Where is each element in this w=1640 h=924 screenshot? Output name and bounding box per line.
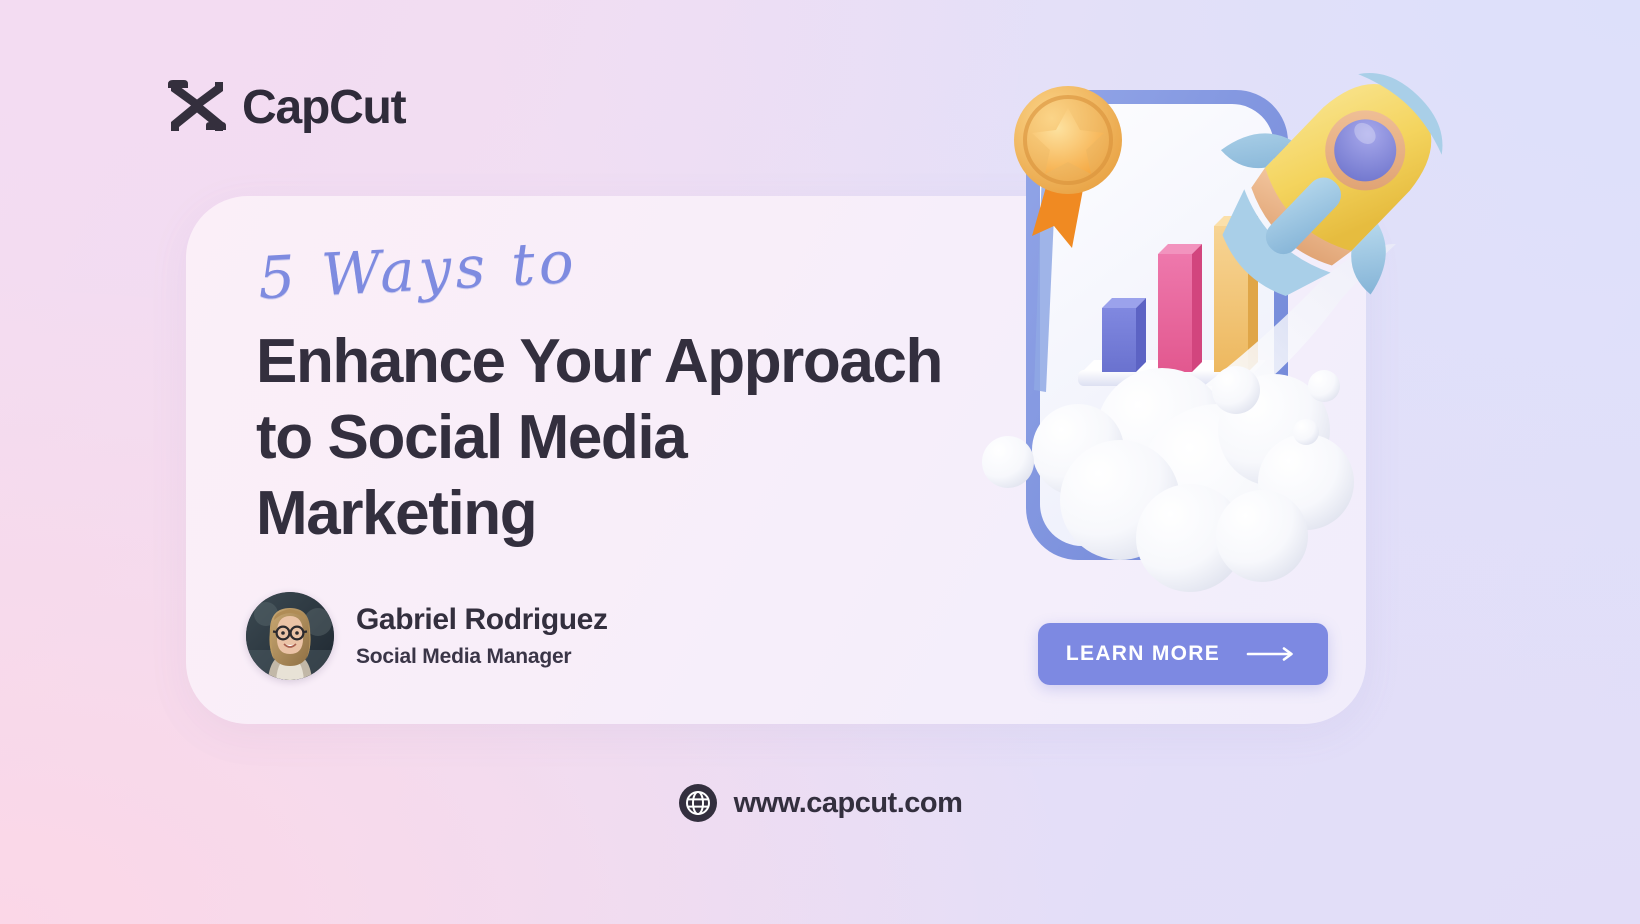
author-name: Gabriel Rodriguez: [356, 603, 608, 637]
arrow-right-icon: [1246, 646, 1300, 662]
avatar: [246, 592, 334, 680]
capcut-hourglass-icon: [166, 78, 228, 136]
brand-name: CapCut: [242, 80, 405, 135]
learn-more-button[interactable]: LEARN MORE: [1038, 623, 1328, 685]
footer: www.capcut.com: [0, 783, 1640, 823]
globe-icon: [678, 783, 718, 823]
capcut-logo: CapCut: [166, 78, 405, 136]
website-url: www.capcut.com: [734, 787, 963, 820]
learn-more-label: LEARN MORE: [1066, 642, 1220, 666]
author-block: Gabriel Rodriguez Social Media Manager: [246, 592, 608, 680]
page-title: Enhance Your Approach to Social Media Ma…: [256, 324, 946, 552]
rocket-launch-analytics-illustration: [950, 30, 1510, 610]
author-role: Social Media Manager: [356, 645, 608, 669]
